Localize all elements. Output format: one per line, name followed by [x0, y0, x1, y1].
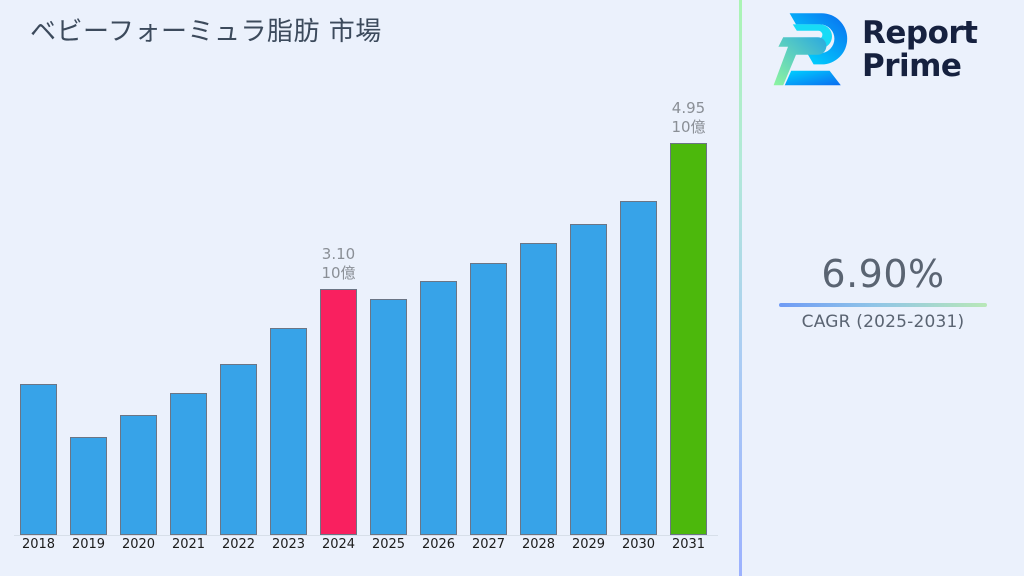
brand-name: Report Prime — [862, 17, 978, 83]
bar-rect-2027 — [470, 263, 507, 535]
screenshot-root: ベビーフォーミュラ脂肪 市場 3.1010億4.9510億 2018201920… — [0, 0, 1024, 576]
bar-2018[interactable] — [20, 384, 57, 535]
cagr-caption: CAGR (2025-2031) — [742, 312, 1024, 332]
bar-2024[interactable]: 3.1010億 — [320, 289, 357, 535]
bar-rect-2029 — [570, 224, 607, 535]
x-tick-2031: 2031 — [672, 537, 705, 552]
chart-panel: ベビーフォーミュラ脂肪 市場 3.1010億4.9510億 2018201920… — [0, 0, 740, 576]
x-tick-2020: 2020 — [122, 537, 155, 552]
bar-2027[interactable] — [470, 263, 507, 535]
bar-value-unit-2031: 10億 — [671, 118, 705, 137]
bar-rect-2022 — [220, 364, 257, 535]
bar-2021[interactable] — [170, 393, 207, 535]
bar-2026[interactable] — [420, 281, 457, 535]
bar-rect-2024 — [320, 289, 357, 535]
bar-rect-2021 — [170, 393, 207, 535]
x-tick-2030: 2030 — [622, 537, 655, 552]
bar-rect-2018 — [20, 384, 57, 535]
bar-2025[interactable] — [370, 299, 407, 535]
bar-rect-2026 — [420, 281, 457, 535]
bar-rect-2020 — [120, 415, 157, 535]
bar-value-number-2024: 3.10 — [322, 245, 355, 263]
bar-2029[interactable] — [570, 224, 607, 535]
bar-2019[interactable] — [70, 437, 107, 535]
x-tick-2024: 2024 — [322, 537, 355, 552]
page-title: ベビーフォーミュラ脂肪 市場 — [30, 11, 382, 48]
bar-rect-2030 — [620, 201, 657, 535]
bar-rect-2031 — [670, 143, 707, 535]
bar-value-number-2031: 4.95 — [672, 99, 705, 117]
x-tick-2026: 2026 — [422, 537, 455, 552]
x-tick-2021: 2021 — [172, 537, 205, 552]
cagr-block: 6.90% CAGR (2025-2031) — [742, 252, 1024, 332]
brand-name-line2: Prime — [862, 50, 978, 83]
bar-2023[interactable] — [270, 328, 307, 535]
x-axis-tick-labels: 2018201920202021202220232024202520262027… — [0, 537, 740, 567]
bar-2030[interactable] — [620, 201, 657, 535]
bar-2020[interactable] — [120, 415, 157, 535]
x-tick-2018: 2018 — [22, 537, 55, 552]
bar-2022[interactable] — [220, 364, 257, 535]
bar-rect-2028 — [520, 243, 557, 535]
bar-2031[interactable]: 4.9510億 — [670, 143, 707, 535]
bar-chart-plot: 3.1010億4.9510億 — [0, 100, 740, 536]
x-tick-2029: 2029 — [572, 537, 605, 552]
cagr-value: 6.90% — [742, 252, 1024, 296]
bar-value-unit-2024: 10億 — [321, 264, 355, 283]
x-tick-2025: 2025 — [372, 537, 405, 552]
side-panel: Report Prime 6.90% CAGR (2025-2031) — [742, 0, 1024, 576]
bar-2028[interactable] — [520, 243, 557, 535]
brand-logo[interactable]: Report Prime — [772, 8, 978, 92]
x-tick-2027: 2027 — [472, 537, 505, 552]
bar-rect-2025 — [370, 299, 407, 535]
cagr-divider-rule — [779, 303, 987, 307]
report-prime-logo-icon — [772, 8, 852, 92]
x-tick-2022: 2022 — [222, 537, 255, 552]
bar-rect-2019 — [70, 437, 107, 535]
brand-name-line1: Report — [862, 17, 978, 50]
chart-baseline — [14, 535, 718, 536]
x-tick-2028: 2028 — [522, 537, 555, 552]
bar-rect-2023 — [270, 328, 307, 535]
x-tick-2023: 2023 — [272, 537, 305, 552]
bar-value-label-2024: 3.1010億 — [321, 245, 355, 283]
x-tick-2019: 2019 — [72, 537, 105, 552]
bar-value-label-2031: 4.9510億 — [671, 99, 705, 137]
